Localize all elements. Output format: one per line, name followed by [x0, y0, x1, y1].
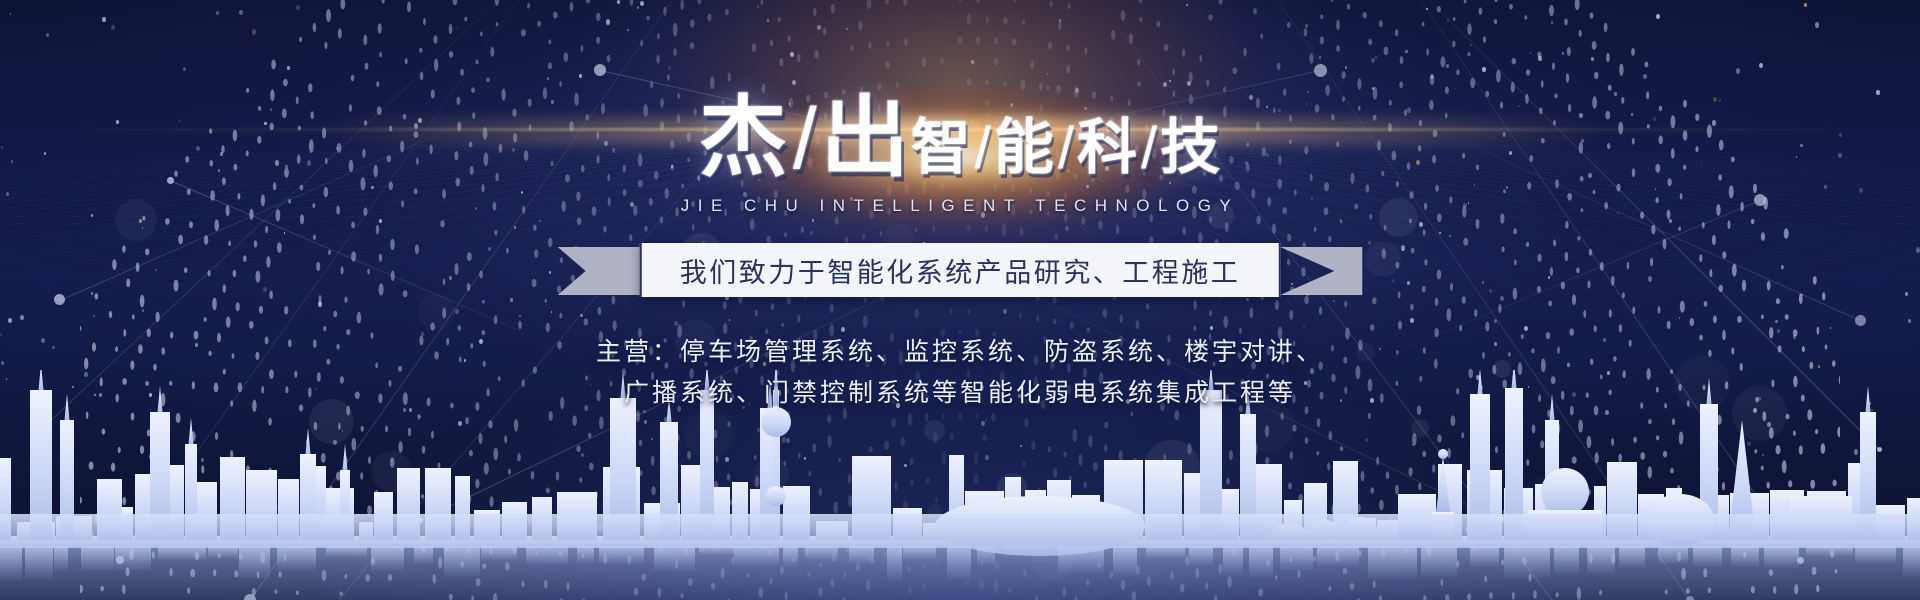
horizon-line — [0, 128, 1920, 131]
description-line-1: 主营：停车场管理系统、监控系统、防盗系统、楼宇对讲、 — [0, 332, 1920, 373]
water-reflection — [0, 514, 1920, 600]
perspective-grid — [0, 132, 1920, 332]
title-char-5: 能 — [994, 118, 1055, 178]
ribbon-tail-left — [558, 247, 640, 295]
ribbon-panel: 我们致力于智能化系统产品研究、工程施工 — [640, 243, 1281, 297]
main-title: 杰/出智/能/科/技 — [699, 94, 1221, 182]
title-char-0: 杰 — [699, 94, 789, 182]
title-char-9: 技 — [1160, 118, 1221, 178]
sun-beam-glow — [310, 118, 1610, 144]
ribbon-text: 我们致力于智能化系统产品研究、工程施工 — [680, 251, 1241, 290]
title-char-2: 出 — [821, 94, 911, 182]
english-subtitle: JIE CHU INTELLIGENT TECHNOLOGY — [0, 196, 1920, 216]
city-skyline — [0, 370, 1920, 600]
hero-banner: 杰/出智/能/科/技 JIE CHU INTELLIGENT TECHNOLOG… — [0, 0, 1920, 600]
title-char-7: 科 — [1077, 118, 1138, 178]
title-block: 杰/出智/能/科/技 JIE CHU INTELLIGENT TECHNOLOG… — [0, 94, 1920, 216]
ribbon-tail-right — [1280, 247, 1362, 295]
sunburst-glow — [610, 26, 1310, 236]
title-char-1: / — [793, 96, 817, 182]
title-char-3: 智 — [911, 118, 972, 178]
ribbon-banner: 我们致力于智能化系统产品研究、工程施工 — [558, 243, 1363, 297]
